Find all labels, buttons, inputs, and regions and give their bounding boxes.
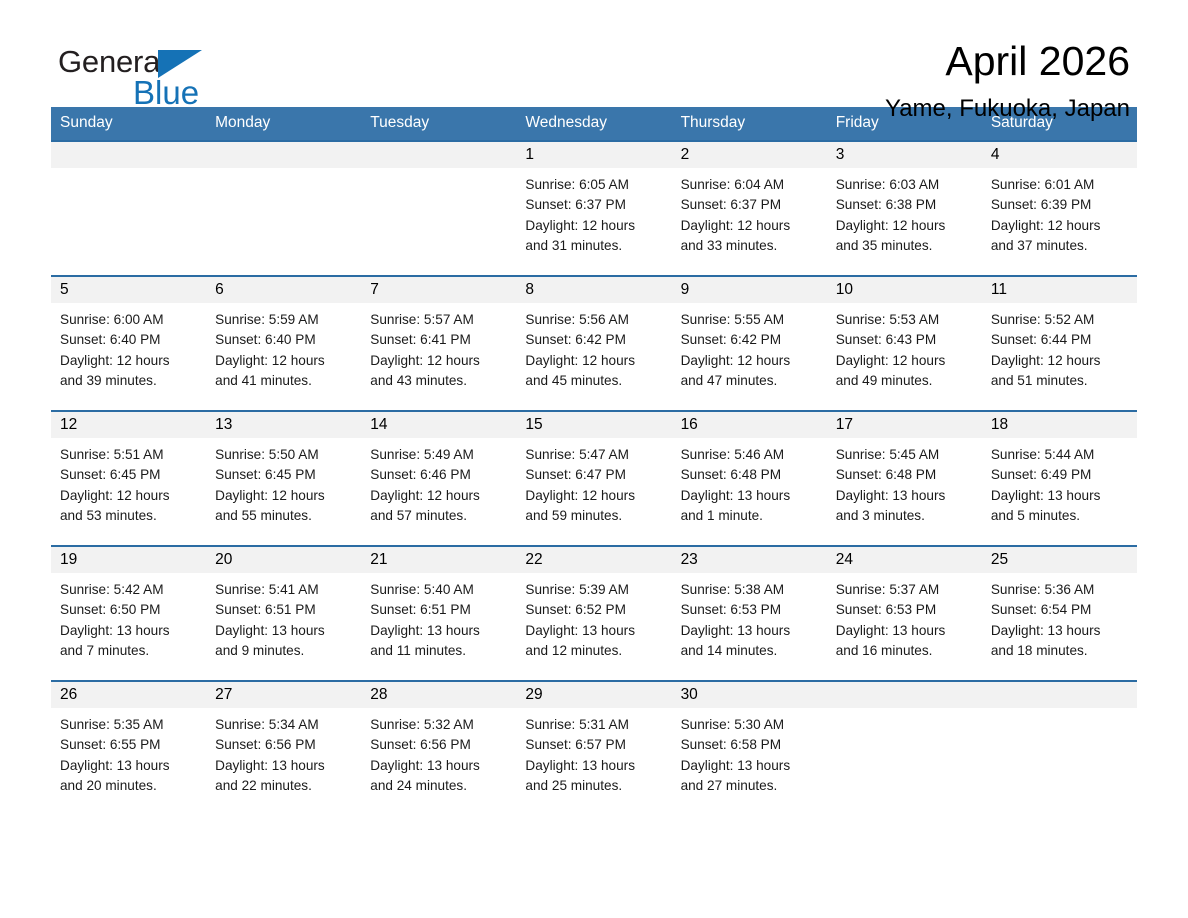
sunrise-time: Sunrise: 5:46 AM [681,445,821,465]
logo-text-blue: Blue [133,76,199,109]
day-cell-content: 24Sunrise: 5:37 AMSunset: 6:53 PMDayligh… [827,547,982,680]
daylight-duration-cont: and 7 minutes. [60,641,200,661]
sunset-time: Sunset: 6:50 PM [60,600,200,620]
sunset-time: Sunset: 6:48 PM [681,465,821,485]
daylight-duration-cont: and 39 minutes. [60,371,200,391]
sunrise-time: Sunrise: 5:47 AM [525,445,665,465]
sunrise-time: Sunrise: 5:57 AM [370,310,510,330]
day-cell-content: 22Sunrise: 5:39 AMSunset: 6:52 PMDayligh… [516,547,671,680]
day-details: Sunrise: 5:53 AMSunset: 6:43 PMDaylight:… [827,303,982,391]
sunrise-time: Sunrise: 5:37 AM [836,580,976,600]
calendar-day-cell[interactable]: 14Sunrise: 5:49 AMSunset: 6:46 PMDayligh… [361,411,516,546]
location-subtitle: Yame, Fukuoka, Japan [885,95,1130,124]
day-details: Sunrise: 6:00 AMSunset: 6:40 PMDaylight:… [51,303,206,391]
calendar-page: General Blue April 2026 Yame, Fukuoka, J… [0,0,1188,918]
daylight-duration-cont: and 11 minutes. [370,641,510,661]
daylight-duration: Daylight: 13 hours [370,756,510,776]
calendar-day-cell[interactable]: 13Sunrise: 5:50 AMSunset: 6:45 PMDayligh… [206,411,361,546]
day-details: Sunrise: 6:03 AMSunset: 6:38 PMDaylight:… [827,168,982,256]
calendar-day-cell[interactable]: 6Sunrise: 5:59 AMSunset: 6:40 PMDaylight… [206,276,361,411]
sunset-time: Sunset: 6:49 PM [991,465,1131,485]
day-cell-content: 8Sunrise: 5:56 AMSunset: 6:42 PMDaylight… [516,277,671,410]
calendar-day-cell[interactable]: 28Sunrise: 5:32 AMSunset: 6:56 PMDayligh… [361,681,516,815]
daylight-duration: Daylight: 13 hours [60,621,200,641]
calendar-day-cell[interactable]: 7Sunrise: 5:57 AMSunset: 6:41 PMDaylight… [361,276,516,411]
sunset-time: Sunset: 6:46 PM [370,465,510,485]
sunset-time: Sunset: 6:45 PM [60,465,200,485]
daylight-duration-cont: and 16 minutes. [836,641,976,661]
day-cell-content: 12Sunrise: 5:51 AMSunset: 6:45 PMDayligh… [51,412,206,545]
day-cell-content: 15Sunrise: 5:47 AMSunset: 6:47 PMDayligh… [516,412,671,545]
calendar-day-cell[interactable]: 1Sunrise: 6:05 AMSunset: 6:37 PMDaylight… [516,141,671,276]
day-cell-content: 18Sunrise: 5:44 AMSunset: 6:49 PMDayligh… [982,412,1137,545]
daylight-duration: Daylight: 13 hours [681,486,821,506]
daylight-duration: Daylight: 13 hours [60,756,200,776]
daylight-duration-cont: and 51 minutes. [991,371,1131,391]
calendar-week-row: 26Sunrise: 5:35 AMSunset: 6:55 PMDayligh… [51,681,1137,815]
daylight-duration: Daylight: 12 hours [370,351,510,371]
sunrise-time: Sunrise: 5:32 AM [370,715,510,735]
daylight-duration: Daylight: 12 hours [525,351,665,371]
day-cell-content: 20Sunrise: 5:41 AMSunset: 6:51 PMDayligh… [206,547,361,680]
daylight-duration: Daylight: 13 hours [681,756,821,776]
day-details: Sunrise: 5:44 AMSunset: 6:49 PMDaylight:… [982,438,1137,526]
calendar-day-cell[interactable]: 27Sunrise: 5:34 AMSunset: 6:56 PMDayligh… [206,681,361,815]
calendar-day-cell[interactable]: 9Sunrise: 5:55 AMSunset: 6:42 PMDaylight… [672,276,827,411]
sunrise-time: Sunrise: 5:50 AM [215,445,355,465]
sunrise-time: Sunrise: 5:35 AM [60,715,200,735]
calendar-day-cell[interactable]: 29Sunrise: 5:31 AMSunset: 6:57 PMDayligh… [516,681,671,815]
day-details [361,168,516,175]
calendar-day-cell[interactable]: 10Sunrise: 5:53 AMSunset: 6:43 PMDayligh… [827,276,982,411]
sunset-time: Sunset: 6:57 PM [525,735,665,755]
daylight-duration: Daylight: 13 hours [215,621,355,641]
daylight-duration: Daylight: 12 hours [681,351,821,371]
sunset-time: Sunset: 6:45 PM [215,465,355,485]
day-number: 28 [361,682,516,708]
day-number: 24 [827,547,982,573]
calendar-day-cell-empty [982,681,1137,815]
sunrise-time: Sunrise: 5:53 AM [836,310,976,330]
day-details: Sunrise: 5:30 AMSunset: 6:58 PMDaylight:… [672,708,827,796]
daylight-duration: Daylight: 13 hours [370,621,510,641]
day-details: Sunrise: 5:35 AMSunset: 6:55 PMDaylight:… [51,708,206,796]
page-title: April 2026 [885,38,1130,85]
day-cell-content: 16Sunrise: 5:46 AMSunset: 6:48 PMDayligh… [672,412,827,545]
sunrise-time: Sunrise: 5:56 AM [525,310,665,330]
day-number [206,142,361,168]
calendar-day-cell-empty [361,141,516,276]
calendar-day-cell[interactable]: 2Sunrise: 6:04 AMSunset: 6:37 PMDaylight… [672,141,827,276]
sunrise-time: Sunrise: 6:00 AM [60,310,200,330]
day-number: 6 [206,277,361,303]
day-number: 12 [51,412,206,438]
daylight-duration: Daylight: 13 hours [525,756,665,776]
day-cell-content: 13Sunrise: 5:50 AMSunset: 6:45 PMDayligh… [206,412,361,545]
sunrise-sunset-calendar: Sunday Monday Tuesday Wednesday Thursday… [51,107,1137,815]
daylight-duration-cont: and 24 minutes. [370,776,510,796]
sunset-time: Sunset: 6:42 PM [525,330,665,350]
daylight-duration: Daylight: 12 hours [60,351,200,371]
day-cell-content [361,142,516,275]
daylight-duration-cont: and 31 minutes. [525,236,665,256]
calendar-day-cell-empty [51,141,206,276]
sunrise-time: Sunrise: 6:03 AM [836,175,976,195]
weekday-header-tuesday: Tuesday [361,107,516,141]
day-number: 3 [827,142,982,168]
day-number [982,682,1137,708]
masthead: General Blue April 2026 Yame, Fukuoka, J… [51,0,1137,107]
daylight-duration-cont: and 35 minutes. [836,236,976,256]
day-number: 11 [982,277,1137,303]
sunrise-time: Sunrise: 5:41 AM [215,580,355,600]
day-number: 29 [516,682,671,708]
daylight-duration: Daylight: 12 hours [836,351,976,371]
day-number: 4 [982,142,1137,168]
calendar-day-cell[interactable]: 23Sunrise: 5:38 AMSunset: 6:53 PMDayligh… [672,546,827,681]
day-details: Sunrise: 5:45 AMSunset: 6:48 PMDaylight:… [827,438,982,526]
daylight-duration-cont: and 9 minutes. [215,641,355,661]
day-number: 7 [361,277,516,303]
day-cell-content: 26Sunrise: 5:35 AMSunset: 6:55 PMDayligh… [51,682,206,815]
day-number: 14 [361,412,516,438]
day-cell-content: 28Sunrise: 5:32 AMSunset: 6:56 PMDayligh… [361,682,516,815]
sunset-time: Sunset: 6:38 PM [836,195,976,215]
sunset-time: Sunset: 6:40 PM [215,330,355,350]
daylight-duration: Daylight: 12 hours [525,486,665,506]
sunset-time: Sunset: 6:42 PM [681,330,821,350]
sunrise-time: Sunrise: 5:44 AM [991,445,1131,465]
day-number: 21 [361,547,516,573]
calendar-week-row: 1Sunrise: 6:05 AMSunset: 6:37 PMDaylight… [51,141,1137,276]
calendar-day-cell[interactable]: 17Sunrise: 5:45 AMSunset: 6:48 PMDayligh… [827,411,982,546]
day-cell-content [206,142,361,275]
daylight-duration-cont: and 53 minutes. [60,506,200,526]
daylight-duration-cont: and 18 minutes. [991,641,1131,661]
weekday-header-thursday: Thursday [672,107,827,141]
title-block: April 2026 Yame, Fukuoka, Japan [885,38,1130,124]
day-details: Sunrise: 5:51 AMSunset: 6:45 PMDaylight:… [51,438,206,526]
sunrise-time: Sunrise: 5:51 AM [60,445,200,465]
sunset-time: Sunset: 6:41 PM [370,330,510,350]
daylight-duration-cont: and 37 minutes. [991,236,1131,256]
calendar-day-cell[interactable]: 12Sunrise: 5:51 AMSunset: 6:45 PMDayligh… [51,411,206,546]
day-number: 5 [51,277,206,303]
daylight-duration: Daylight: 12 hours [215,351,355,371]
day-details: Sunrise: 5:50 AMSunset: 6:45 PMDaylight:… [206,438,361,526]
day-details: Sunrise: 5:56 AMSunset: 6:42 PMDaylight:… [516,303,671,391]
day-number: 8 [516,277,671,303]
daylight-duration-cont: and 20 minutes. [60,776,200,796]
day-cell-content: 5Sunrise: 6:00 AMSunset: 6:40 PMDaylight… [51,277,206,410]
sunrise-time: Sunrise: 5:42 AM [60,580,200,600]
day-number: 10 [827,277,982,303]
sunrise-time: Sunrise: 5:34 AM [215,715,355,735]
daylight-duration: Daylight: 12 hours [991,216,1131,236]
day-details: Sunrise: 5:39 AMSunset: 6:52 PMDaylight:… [516,573,671,661]
day-details [206,168,361,175]
day-details: Sunrise: 5:46 AMSunset: 6:48 PMDaylight:… [672,438,827,526]
sunset-time: Sunset: 6:56 PM [215,735,355,755]
day-number [361,142,516,168]
day-details: Sunrise: 5:57 AMSunset: 6:41 PMDaylight:… [361,303,516,391]
daylight-duration-cont: and 43 minutes. [370,371,510,391]
day-cell-content: 9Sunrise: 5:55 AMSunset: 6:42 PMDaylight… [672,277,827,410]
calendar-day-cell[interactable]: 4Sunrise: 6:01 AMSunset: 6:39 PMDaylight… [982,141,1137,276]
calendar-day-cell[interactable]: 25Sunrise: 5:36 AMSunset: 6:54 PMDayligh… [982,546,1137,681]
sunrise-time: Sunrise: 5:31 AM [525,715,665,735]
daylight-duration-cont: and 12 minutes. [525,641,665,661]
day-number: 13 [206,412,361,438]
sunrise-time: Sunrise: 5:40 AM [370,580,510,600]
sunrise-time: Sunrise: 5:55 AM [681,310,821,330]
day-details: Sunrise: 5:32 AMSunset: 6:56 PMDaylight:… [361,708,516,796]
sunrise-time: Sunrise: 6:04 AM [681,175,821,195]
day-cell-content: 10Sunrise: 5:53 AMSunset: 6:43 PMDayligh… [827,277,982,410]
day-number: 23 [672,547,827,573]
daylight-duration: Daylight: 12 hours [215,486,355,506]
daylight-duration-cont: and 41 minutes. [215,371,355,391]
daylight-duration: Daylight: 13 hours [215,756,355,776]
calendar-week-row: 12Sunrise: 5:51 AMSunset: 6:45 PMDayligh… [51,411,1137,546]
sunset-time: Sunset: 6:43 PM [836,330,976,350]
daylight-duration-cont: and 22 minutes. [215,776,355,796]
calendar-day-cell[interactable]: 19Sunrise: 5:42 AMSunset: 6:50 PMDayligh… [51,546,206,681]
sunrise-time: Sunrise: 5:59 AM [215,310,355,330]
day-cell-content: 3Sunrise: 6:03 AMSunset: 6:38 PMDaylight… [827,142,982,275]
daylight-duration-cont: and 27 minutes. [681,776,821,796]
day-cell-content: 6Sunrise: 5:59 AMSunset: 6:40 PMDaylight… [206,277,361,410]
sunset-time: Sunset: 6:54 PM [991,600,1131,620]
daylight-duration-cont: and 59 minutes. [525,506,665,526]
day-details: Sunrise: 5:31 AMSunset: 6:57 PMDaylight:… [516,708,671,796]
day-number: 9 [672,277,827,303]
day-details: Sunrise: 5:36 AMSunset: 6:54 PMDaylight:… [982,573,1137,661]
day-cell-content: 29Sunrise: 5:31 AMSunset: 6:57 PMDayligh… [516,682,671,815]
day-cell-content [982,682,1137,815]
day-cell-content [51,142,206,275]
daylight-duration-cont: and 45 minutes. [525,371,665,391]
sunrise-time: Sunrise: 5:36 AM [991,580,1131,600]
day-details [982,708,1137,715]
sunset-time: Sunset: 6:37 PM [681,195,821,215]
weekday-header-wednesday: Wednesday [516,107,671,141]
day-number: 26 [51,682,206,708]
calendar-day-cell[interactable]: 21Sunrise: 5:40 AMSunset: 6:51 PMDayligh… [361,546,516,681]
calendar-day-cell[interactable]: 26Sunrise: 5:35 AMSunset: 6:55 PMDayligh… [51,681,206,815]
calendar-week-row: 5Sunrise: 6:00 AMSunset: 6:40 PMDaylight… [51,276,1137,411]
day-cell-content: 7Sunrise: 5:57 AMSunset: 6:41 PMDaylight… [361,277,516,410]
day-details: Sunrise: 5:42 AMSunset: 6:50 PMDaylight:… [51,573,206,661]
sunset-time: Sunset: 6:51 PM [370,600,510,620]
day-cell-content: 17Sunrise: 5:45 AMSunset: 6:48 PMDayligh… [827,412,982,545]
calendar-day-cell[interactable]: 24Sunrise: 5:37 AMSunset: 6:53 PMDayligh… [827,546,982,681]
sunrise-time: Sunrise: 6:01 AM [991,175,1131,195]
day-details: Sunrise: 6:01 AMSunset: 6:39 PMDaylight:… [982,168,1137,256]
day-number: 19 [51,547,206,573]
day-number: 16 [672,412,827,438]
day-cell-content: 4Sunrise: 6:01 AMSunset: 6:39 PMDaylight… [982,142,1137,275]
sunset-time: Sunset: 6:52 PM [525,600,665,620]
general-blue-logo[interactable]: General Blue [58,46,258,116]
day-number: 20 [206,547,361,573]
sunrise-time: Sunrise: 5:45 AM [836,445,976,465]
day-cell-content: 25Sunrise: 5:36 AMSunset: 6:54 PMDayligh… [982,547,1137,680]
day-cell-content: 2Sunrise: 6:04 AMSunset: 6:37 PMDaylight… [672,142,827,275]
daylight-duration: Daylight: 13 hours [836,621,976,641]
day-details: Sunrise: 5:34 AMSunset: 6:56 PMDaylight:… [206,708,361,796]
sunset-time: Sunset: 6:48 PM [836,465,976,485]
daylight-duration: Daylight: 12 hours [60,486,200,506]
day-number: 27 [206,682,361,708]
sunrise-time: Sunrise: 5:49 AM [370,445,510,465]
calendar-day-cell[interactable]: 30Sunrise: 5:30 AMSunset: 6:58 PMDayligh… [672,681,827,815]
daylight-duration: Daylight: 13 hours [525,621,665,641]
day-cell-content: 11Sunrise: 5:52 AMSunset: 6:44 PMDayligh… [982,277,1137,410]
day-details: Sunrise: 5:52 AMSunset: 6:44 PMDaylight:… [982,303,1137,391]
daylight-duration-cont: and 49 minutes. [836,371,976,391]
day-cell-content: 21Sunrise: 5:40 AMSunset: 6:51 PMDayligh… [361,547,516,680]
daylight-duration: Daylight: 13 hours [991,486,1131,506]
calendar-day-cell[interactable]: 22Sunrise: 5:39 AMSunset: 6:52 PMDayligh… [516,546,671,681]
day-details: Sunrise: 5:59 AMSunset: 6:40 PMDaylight:… [206,303,361,391]
day-cell-content: 14Sunrise: 5:49 AMSunset: 6:46 PMDayligh… [361,412,516,545]
sunset-time: Sunset: 6:53 PM [836,600,976,620]
calendar-day-cell[interactable]: 15Sunrise: 5:47 AMSunset: 6:47 PMDayligh… [516,411,671,546]
daylight-duration: Daylight: 13 hours [836,486,976,506]
daylight-duration-cont: and 3 minutes. [836,506,976,526]
day-cell-content: 1Sunrise: 6:05 AMSunset: 6:37 PMDaylight… [516,142,671,275]
sunrise-time: Sunrise: 5:52 AM [991,310,1131,330]
day-number: 2 [672,142,827,168]
logo-text-general: General [58,46,167,77]
daylight-duration: Daylight: 12 hours [836,216,976,236]
daylight-duration: Daylight: 12 hours [991,351,1131,371]
calendar-body: 1Sunrise: 6:05 AMSunset: 6:37 PMDaylight… [51,141,1137,815]
day-details: Sunrise: 5:49 AMSunset: 6:46 PMDaylight:… [361,438,516,526]
day-number [827,682,982,708]
day-details: Sunrise: 5:38 AMSunset: 6:53 PMDaylight:… [672,573,827,661]
day-cell-content [827,682,982,815]
daylight-duration-cont: and 55 minutes. [215,506,355,526]
day-number: 1 [516,142,671,168]
calendar-day-cell-empty [206,141,361,276]
calendar-day-cell[interactable]: 3Sunrise: 6:03 AMSunset: 6:38 PMDaylight… [827,141,982,276]
day-cell-content: 30Sunrise: 5:30 AMSunset: 6:58 PMDayligh… [672,682,827,815]
day-number: 18 [982,412,1137,438]
day-number: 17 [827,412,982,438]
day-details: Sunrise: 5:55 AMSunset: 6:42 PMDaylight:… [672,303,827,391]
day-details [827,708,982,715]
sunset-time: Sunset: 6:44 PM [991,330,1131,350]
calendar-day-cell[interactable]: 18Sunrise: 5:44 AMSunset: 6:49 PMDayligh… [982,411,1137,546]
calendar-day-cell[interactable]: 20Sunrise: 5:41 AMSunset: 6:51 PMDayligh… [206,546,361,681]
calendar-day-cell[interactable]: 16Sunrise: 5:46 AMSunset: 6:48 PMDayligh… [672,411,827,546]
sunset-time: Sunset: 6:40 PM [60,330,200,350]
sunset-time: Sunset: 6:51 PM [215,600,355,620]
daylight-duration: Daylight: 12 hours [525,216,665,236]
sunrise-time: Sunrise: 5:38 AM [681,580,821,600]
day-cell-content: 23Sunrise: 5:38 AMSunset: 6:53 PMDayligh… [672,547,827,680]
day-details: Sunrise: 5:37 AMSunset: 6:53 PMDaylight:… [827,573,982,661]
day-number: 30 [672,682,827,708]
calendar-day-cell-empty [827,681,982,815]
daylight-duration-cont: and 25 minutes. [525,776,665,796]
daylight-duration-cont: and 14 minutes. [681,641,821,661]
sunset-time: Sunset: 6:37 PM [525,195,665,215]
day-details: Sunrise: 5:47 AMSunset: 6:47 PMDaylight:… [516,438,671,526]
calendar-day-cell[interactable]: 5Sunrise: 6:00 AMSunset: 6:40 PMDaylight… [51,276,206,411]
daylight-duration-cont: and 47 minutes. [681,371,821,391]
day-number [51,142,206,168]
daylight-duration: Daylight: 13 hours [681,621,821,641]
daylight-duration: Daylight: 12 hours [681,216,821,236]
sunrise-time: Sunrise: 5:39 AM [525,580,665,600]
daylight-duration: Daylight: 12 hours [370,486,510,506]
day-number: 22 [516,547,671,573]
day-details: Sunrise: 5:40 AMSunset: 6:51 PMDaylight:… [361,573,516,661]
calendar-day-cell[interactable]: 8Sunrise: 5:56 AMSunset: 6:42 PMDaylight… [516,276,671,411]
sunset-time: Sunset: 6:58 PM [681,735,821,755]
day-details: Sunrise: 5:41 AMSunset: 6:51 PMDaylight:… [206,573,361,661]
daylight-duration: Daylight: 13 hours [991,621,1131,641]
day-number: 25 [982,547,1137,573]
sunset-time: Sunset: 6:53 PM [681,600,821,620]
calendar-day-cell[interactable]: 11Sunrise: 5:52 AMSunset: 6:44 PMDayligh… [982,276,1137,411]
sunrise-time: Sunrise: 5:30 AM [681,715,821,735]
sunset-time: Sunset: 6:39 PM [991,195,1131,215]
sunset-time: Sunset: 6:55 PM [60,735,200,755]
day-cell-content: 27Sunrise: 5:34 AMSunset: 6:56 PMDayligh… [206,682,361,815]
sunset-time: Sunset: 6:47 PM [525,465,665,485]
daylight-duration-cont: and 57 minutes. [370,506,510,526]
day-cell-content: 19Sunrise: 5:42 AMSunset: 6:50 PMDayligh… [51,547,206,680]
daylight-duration-cont: and 5 minutes. [991,506,1131,526]
sunrise-time: Sunrise: 6:05 AM [525,175,665,195]
day-details [51,168,206,175]
calendar-week-row: 19Sunrise: 5:42 AMSunset: 6:50 PMDayligh… [51,546,1137,681]
daylight-duration-cont: and 33 minutes. [681,236,821,256]
day-details: Sunrise: 6:04 AMSunset: 6:37 PMDaylight:… [672,168,827,256]
daylight-duration-cont: and 1 minute. [681,506,821,526]
sunset-time: Sunset: 6:56 PM [370,735,510,755]
day-details: Sunrise: 6:05 AMSunset: 6:37 PMDaylight:… [516,168,671,256]
day-number: 15 [516,412,671,438]
